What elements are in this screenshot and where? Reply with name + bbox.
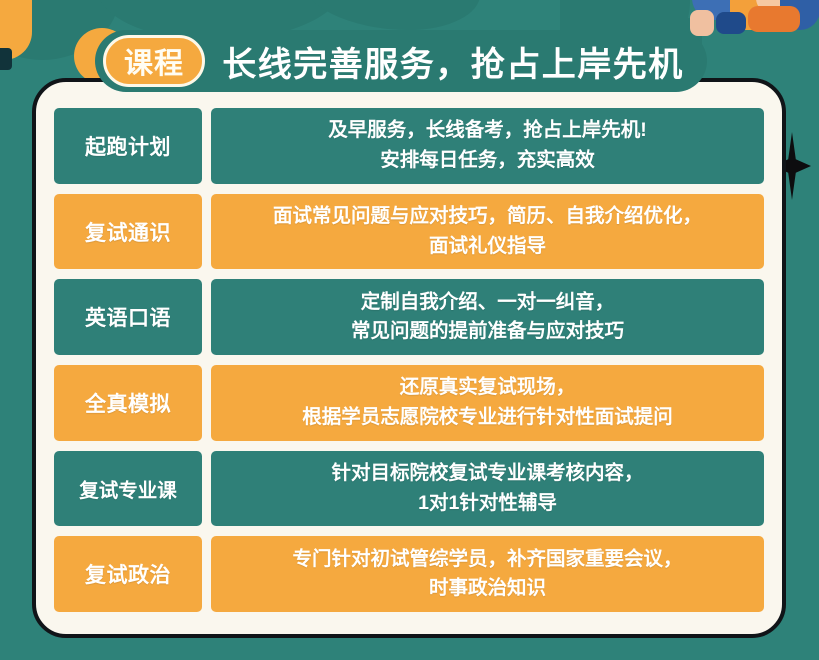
illustration-fragment	[690, 0, 819, 44]
course-row-label[interactable]: 全真模拟	[54, 365, 202, 441]
section-badge: 课程	[103, 35, 205, 87]
poster-canvas: 课程 长线完善服务，抢占上岸先机 起跑计划及早服务，长线备考，抢占上岸先机!安排…	[0, 0, 819, 660]
course-row-description-line: 面试常见问题与应对技巧，简历、自我介绍优化，	[273, 202, 702, 232]
illustration-shape-d	[780, 0, 819, 30]
course-row-description: 定制自我介绍、一对一纠音，常见问题的提前准备与应对技巧	[211, 279, 764, 355]
illustration-shape-a	[692, 0, 738, 20]
course-row-description: 还原真实复试现场，根据学员志愿院校专业进行针对性面试提问	[211, 365, 764, 441]
course-row-description-line: 及早服务，长线备考，抢占上岸先机!	[328, 116, 647, 146]
course-row-description-line: 根据学员志愿院校专业进行针对性面试提问	[302, 403, 673, 433]
course-row: 复试政治专门针对初试管综学员，补齐国家重要会议，时事政治知识	[54, 536, 764, 612]
course-row-description: 面试常见问题与应对技巧，简历、自我介绍优化，面试礼仪指导	[211, 194, 764, 270]
course-row-description-line: 还原真实复试现场，	[400, 373, 576, 403]
course-row: 英语口语定制自我介绍、一对一纠音，常见问题的提前准备与应对技巧	[54, 279, 764, 355]
course-row-description-line: 专门针对初试管综学员，补齐国家重要会议，	[292, 545, 682, 575]
course-row-description-line: 时事政治知识	[429, 574, 546, 604]
course-row-label[interactable]: 英语口语	[54, 279, 202, 355]
course-row-description: 及早服务，长线备考，抢占上岸先机!安排每日任务，充实高效	[211, 108, 764, 184]
course-row-label[interactable]: 复试政治	[54, 536, 202, 612]
course-row-label[interactable]: 复试通识	[54, 194, 202, 270]
illustration-shape-f	[716, 12, 746, 34]
section-title: 长线完善服务，抢占上岸先机	[205, 37, 707, 86]
course-row-description-line: 针对目标院校复试专业课考核内容，	[331, 459, 643, 489]
course-row-label[interactable]: 起跑计划	[54, 108, 202, 184]
illustration-shape-e	[748, 6, 800, 32]
course-row-description-line: 1对1针对性辅导	[418, 489, 557, 519]
course-table-card: 起跑计划及早服务，长线备考，抢占上岸先机!安排每日任务，充实高效复试通识面试常见…	[32, 78, 786, 638]
course-row-description-line: 常见问题的提前准备与应对技巧	[351, 317, 624, 347]
section-header-band: 课程 长线完善服务，抢占上岸先机	[95, 30, 707, 92]
decorative-dark-nub	[0, 48, 12, 70]
course-row-description-line: 安排每日任务，充实高效	[380, 146, 595, 176]
decorative-orange-wedge	[0, 0, 32, 60]
illustration-shape-c	[756, 0, 788, 14]
course-row: 全真模拟还原真实复试现场，根据学员志愿院校专业进行针对性面试提问	[54, 365, 764, 441]
course-row-description-line: 定制自我介绍、一对一纠音，	[361, 288, 615, 318]
illustration-shape-b	[730, 0, 764, 30]
course-row: 复试通识面试常见问题与应对技巧，简历、自我介绍优化，面试礼仪指导	[54, 194, 764, 270]
illustration-shape-g	[690, 10, 714, 36]
course-row-description-line: 面试礼仪指导	[429, 232, 546, 262]
course-row: 起跑计划及早服务，长线备考，抢占上岸先机!安排每日任务，充实高效	[54, 108, 764, 184]
course-row-description: 针对目标院校复试专业课考核内容，1对1针对性辅导	[211, 451, 764, 527]
course-row-label[interactable]: 复试专业课	[54, 451, 202, 527]
course-row: 复试专业课针对目标院校复试专业课考核内容，1对1针对性辅导	[54, 451, 764, 527]
background-blob-top-middle	[300, 0, 480, 30]
course-row-description: 专门针对初试管综学员，补齐国家重要会议，时事政治知识	[211, 536, 764, 612]
